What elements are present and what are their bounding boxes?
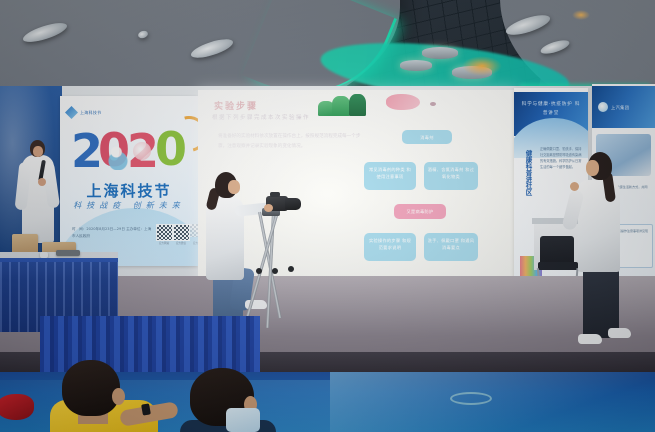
warm-spotlight-glow xyxy=(462,56,502,76)
audience-child-ear xyxy=(112,388,125,405)
black-folding-chair-seat xyxy=(538,262,578,270)
face-mask-icon xyxy=(226,408,260,432)
banner-subtitle: 科技战疫 创新未来 xyxy=(60,200,198,211)
screen-glare xyxy=(198,90,518,290)
banner-logo: 上海科技节 xyxy=(65,105,109,121)
banner-year-2020: 2 0 2 0 xyxy=(71,128,189,176)
audience-child-head xyxy=(62,360,120,416)
warm-spotlight-glow xyxy=(572,10,590,20)
red-foreground-object xyxy=(0,394,34,420)
projection-screen: 实验步骤 根据下列步骤完成本次实验操作 将准备好的实验材料依次放置在操作台上，按… xyxy=(198,90,518,290)
festival-logo-icon xyxy=(65,106,78,119)
banner-logo-text: 上海科技节 xyxy=(80,110,102,116)
tripod-knob xyxy=(272,268,278,274)
small-instrument xyxy=(56,250,80,256)
main-event-banner: 上海科技节 2 0 2 0 上海科技节 科技战疫 创新未来 时 间：2020年8… xyxy=(60,96,198,266)
banner-vertical-title: 健康科普进社区 xyxy=(519,150,533,196)
presenter-face xyxy=(33,146,43,157)
qr-caption: 官方网站 xyxy=(156,241,172,245)
company-logo-icon xyxy=(598,102,608,112)
qr-code-icon xyxy=(156,224,173,241)
assistant-shoe xyxy=(578,334,602,344)
dslr-camera-prism xyxy=(270,192,280,197)
blue-curtain xyxy=(40,316,260,372)
tripod-knob xyxy=(256,268,262,274)
wristwatch-icon xyxy=(141,403,151,415)
presenter-hand xyxy=(38,178,46,186)
floor-reflection xyxy=(330,372,655,432)
banner-body-text: 正确佩戴口罩、勤洗手、保持社交距离是预防呼吸道传染病的有效措施。科学防护从日常生… xyxy=(540,146,582,170)
event-photograph: 上海科技节 2 0 2 0 上海科技节 科技战疫 创新未来 时 间：2020年8… xyxy=(0,0,655,432)
wooden-apparatus-box xyxy=(12,234,38,254)
banner-logo-text: 上汽集团 xyxy=(611,105,629,111)
dslr-camera-lens-icon xyxy=(285,198,301,210)
tripod-knob xyxy=(288,266,294,272)
qr-caption: 官方微信 xyxy=(173,241,189,245)
camera-operator-face xyxy=(228,180,240,194)
pendant-lamp-icon xyxy=(422,47,458,59)
camera-operator-hand xyxy=(264,204,273,212)
mascot-illustration-icon xyxy=(133,142,151,160)
banner-header-text: 科学与健康·抗疫防护 科普讲堂 xyxy=(520,100,582,118)
pendant-lamp-icon xyxy=(400,60,432,71)
assistant-shoe xyxy=(608,328,631,338)
qr-code-icon xyxy=(173,224,190,241)
qr-caption: 官方微博 xyxy=(190,241,198,245)
banner-title: 上海科技节 xyxy=(60,180,198,201)
qr-code-icon xyxy=(190,224,198,237)
banner-meta-text: 时 间：2020年8月23日—29日 主办单位：上海市人民政府 xyxy=(72,226,152,240)
floor-marking-ring xyxy=(450,392,492,405)
mascot-illustration-icon xyxy=(101,140,135,170)
assistant-face xyxy=(586,160,599,176)
assistant-hand xyxy=(570,182,579,191)
